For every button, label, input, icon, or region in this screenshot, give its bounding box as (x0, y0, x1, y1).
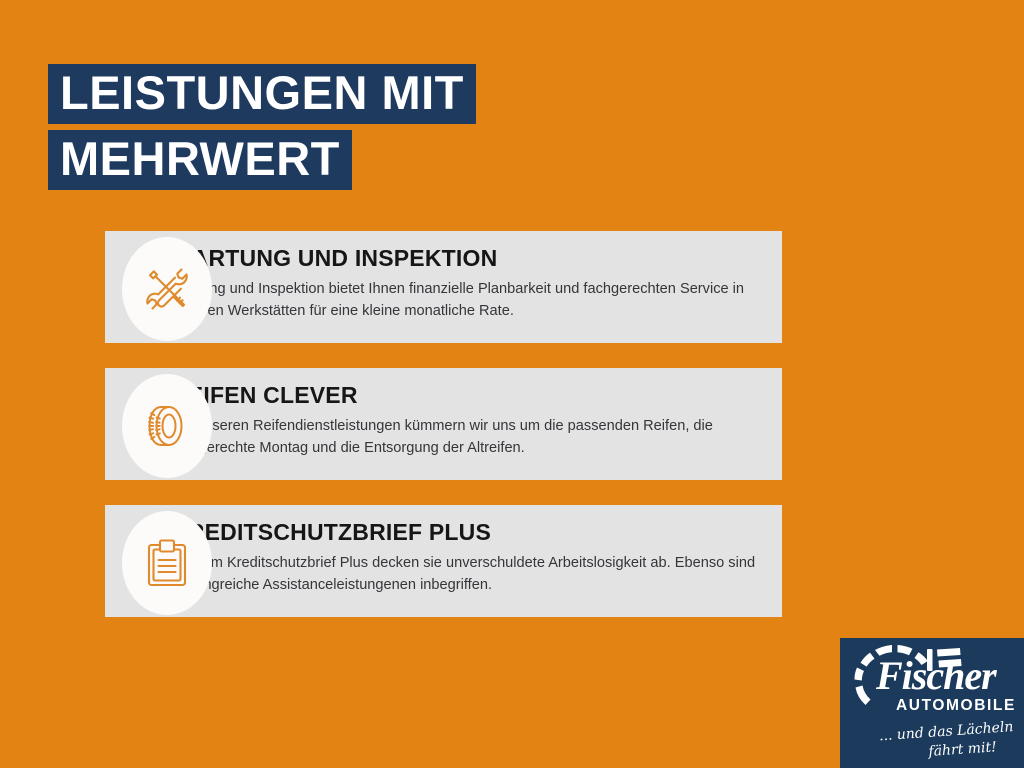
wrench-screwdriver-icon (141, 263, 193, 315)
icon-badge (122, 374, 212, 478)
tire-icon (141, 400, 193, 452)
page-title-line-1: LEISTUNGEN MIT (48, 64, 476, 124)
card-body: REIFEN CLEVER Bei unseren Reifendienstle… (171, 381, 760, 459)
card-heading: REIFEN CLEVER (171, 381, 760, 409)
card-description: Wartung und Inspektion bietet Ihnen fina… (171, 278, 760, 322)
brand-logo: Fischer AUTOMOBILE ... und das Lächeln f… (840, 638, 1024, 768)
icon-badge (122, 511, 212, 615)
logo-subtitle: AUTOMOBILE (896, 697, 1016, 715)
card-heading: WARTUNG UND INSPEKTION (171, 244, 760, 272)
slide-canvas: LEISTUNGEN MIT MEHRWERT (0, 0, 1024, 768)
service-card-wartung-und-inspektion[interactable]: WARTUNG UND INSPEKTION Wartung und Inspe… (105, 231, 782, 343)
card-body: WARTUNG UND INSPEKTION Wartung und Inspe… (171, 244, 760, 322)
logo-wordmark: Fischer (876, 656, 996, 696)
logo-tagline: ... und das Lächeln fährt mit! (853, 718, 1015, 767)
card-description: Mit dem Kreditschutzbrief Plus decken si… (171, 552, 760, 596)
page-title: LEISTUNGEN MIT MEHRWERT (48, 64, 476, 196)
card-description: Bei unseren Reifendienstleistungen kümme… (171, 415, 760, 459)
clipboard-icon (142, 537, 192, 589)
page-title-line-2: MEHRWERT (48, 130, 352, 190)
card-body: KREDITSCHUTZBRIEF PLUS Mit dem Kreditsch… (171, 518, 760, 596)
service-card-reifen-clever[interactable]: REIFEN CLEVER Bei unseren Reifendienstle… (105, 368, 782, 480)
card-heading: KREDITSCHUTZBRIEF PLUS (171, 518, 760, 546)
service-card-kreditschutzbrief-plus[interactable]: KREDITSCHUTZBRIEF PLUS Mit dem Kreditsch… (105, 505, 782, 617)
icon-badge (122, 237, 212, 341)
